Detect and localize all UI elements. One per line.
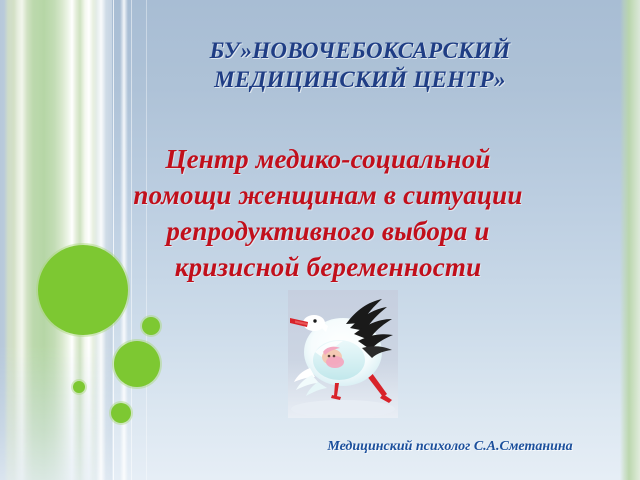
main-title-line-2: помощи женщинам в ситуации	[58, 178, 598, 214]
main-title-line-4: кризисной беременности	[58, 250, 598, 286]
footer-credit: Медицинский психолог С.А.Сметанина	[280, 439, 620, 455]
main-title: Центр медико-социальной помощи женщинам …	[58, 142, 598, 286]
decorative-bubble-small-a	[142, 317, 160, 335]
decorative-bubble-medium	[114, 341, 160, 387]
decorative-bubble-small-c	[111, 403, 131, 423]
stork-icon	[288, 290, 398, 418]
organization-title: БУ»НОВОЧЕБОКСАРСКИЙ МЕДИЦИНСКИЙ ЦЕНТР»	[120, 36, 600, 95]
organization-title-line-2: МЕДИЦИНСКИЙ ЦЕНТР»	[120, 65, 600, 94]
right-stripe-band	[620, 0, 640, 480]
organization-title-line-1: БУ»НОВОЧЕБОКСАРСКИЙ	[120, 36, 600, 65]
presentation-slide: БУ»НОВОЧЕБОКСАРСКИЙ МЕДИЦИНСКИЙ ЦЕНТР» Ц…	[0, 0, 640, 480]
stork-carrying-baby-illustration	[288, 290, 398, 418]
main-title-line-1: Центр медико-социальной	[58, 142, 598, 178]
main-title-line-3: репродуктивного выбора и	[58, 214, 598, 250]
decorative-bubble-small-b	[73, 381, 85, 393]
